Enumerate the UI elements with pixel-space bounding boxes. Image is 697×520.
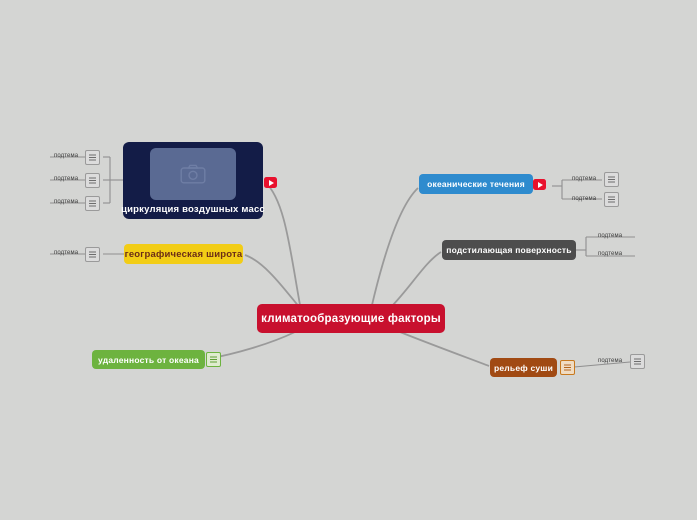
subtopic-label-ocean-currents-2[interactable]: подтема (572, 196, 596, 202)
list-icon-circulation-3[interactable] (85, 196, 100, 211)
node-underlying-surface-label: подстилающая поверхность (446, 245, 571, 255)
node-ocean-distance[interactable]: удаленность от океана (92, 350, 205, 369)
node-central-label: климатообразующие факторы (261, 313, 441, 325)
node-relief[interactable]: рельеф суши (490, 358, 557, 377)
subtopic-label-ocean-currents-1[interactable]: подтема (572, 176, 596, 182)
node-latitude-label: географическая широта (125, 249, 243, 260)
list-icon-circulation-2[interactable] (85, 173, 100, 188)
lines-glyph (607, 175, 616, 184)
lines-glyph (88, 199, 97, 208)
video-badge-circulation[interactable] (264, 177, 277, 188)
camera-icon (180, 164, 206, 184)
subtopic-label-circulation-3[interactable]: подтема (54, 199, 78, 205)
edge-central-surface (390, 252, 441, 308)
connector-layer (0, 0, 697, 520)
node-circulation[interactable]: циркуляция воздушных масс (123, 142, 263, 219)
node-underlying-surface[interactable]: подстилающая поверхность (442, 240, 576, 260)
node-relief-label: рельеф суши (494, 363, 553, 373)
list-icon-ocean-currents-2[interactable] (604, 192, 619, 207)
list-icon-relief-1[interactable] (630, 354, 645, 369)
node-ocean-currents-label: океанические течения (427, 179, 525, 189)
lines-glyph (607, 195, 616, 204)
subtopic-label-circulation-1[interactable]: подтема (54, 153, 78, 159)
subtopic-label-relief-1[interactable]: подтема (598, 358, 622, 364)
lines-glyph (88, 176, 97, 185)
list-icon-ocean-distance[interactable] (206, 352, 221, 367)
image-placeholder[interactable] (150, 148, 236, 200)
subtopic-label-surface-1[interactable]: подтема (598, 233, 622, 239)
node-circulation-label: циркуляция воздушных масс (121, 204, 265, 215)
subtopic-label-latitude-1[interactable]: подтема (54, 250, 78, 256)
lines-glyph (209, 355, 218, 364)
edge-central-relief (400, 332, 489, 366)
node-latitude[interactable]: географическая широта (124, 244, 243, 264)
video-badge-ocean-currents[interactable] (533, 179, 546, 190)
subtopic-label-circulation-2[interactable]: подтема (54, 176, 78, 182)
list-icon-relief[interactable] (560, 360, 575, 375)
edge-central-circulation (265, 182, 300, 305)
mindmap-canvas[interactable]: климатообразующие факторы циркуляция воз… (0, 0, 697, 520)
play-icon (269, 180, 274, 186)
play-icon (538, 182, 543, 188)
lines-glyph (563, 363, 572, 372)
edge-central-latitude (245, 255, 300, 308)
edge-central-oceancurrents (372, 188, 418, 305)
node-ocean-currents[interactable]: океанические течения (419, 174, 533, 194)
node-central-topic[interactable]: климатообразующие факторы (257, 304, 445, 333)
list-icon-latitude-1[interactable] (85, 247, 100, 262)
lines-glyph (633, 357, 642, 366)
subtopic-label-surface-2[interactable]: подтема (598, 251, 622, 257)
list-icon-ocean-currents-1[interactable] (604, 172, 619, 187)
lines-glyph (88, 250, 97, 259)
lines-glyph (88, 153, 97, 162)
node-ocean-distance-label: удаленность от океана (98, 355, 199, 365)
list-icon-circulation-1[interactable] (85, 150, 100, 165)
